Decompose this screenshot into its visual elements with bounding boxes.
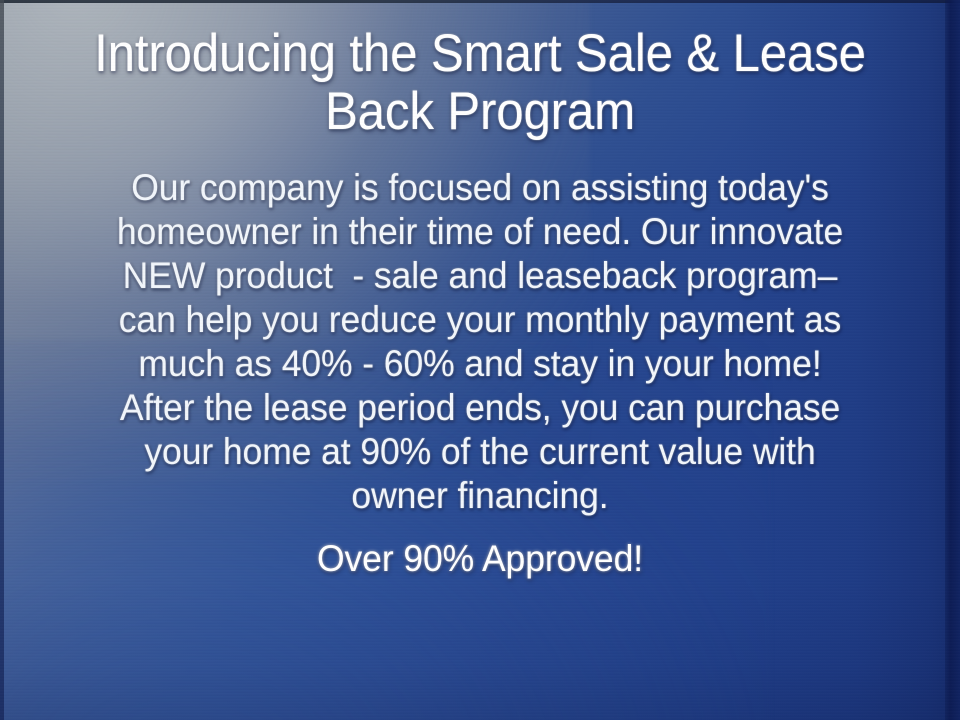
slide-body: Our company is focused on assisting toda…: [0, 166, 960, 518]
slide-body-line-2: homeowner in their time of need. Our inn…: [54, 210, 906, 254]
slide-body-line-4: can help you reduce your monthly payment…: [54, 298, 906, 342]
slide-content: Introducing the Smart Sale & Lease Back …: [0, 0, 960, 720]
slide-body-line-1: Our company is focused on assisting toda…: [54, 166, 906, 210]
slide-body-line-3: NEW product - sale and leaseback program…: [54, 254, 906, 298]
slide-title-line-2: Back Program: [65, 83, 895, 141]
slide-body-line-6: After the lease period ends, you can pur…: [54, 386, 906, 430]
slide-closing-line: Over 90% Approved!: [19, 537, 941, 581]
presentation-slide: Introducing the Smart Sale & Lease Back …: [0, 0, 960, 720]
slide-body-line-7: your home at 90% of the current value wi…: [54, 430, 906, 474]
slide-title: Introducing the Smart Sale & Lease Back …: [0, 25, 960, 141]
slide-body-line-5: much as 40% - 60% and stay in your home!: [54, 342, 906, 386]
slide-body-line-8: owner financing.: [54, 474, 906, 518]
slide-title-line-1: Introducing the Smart Sale & Lease: [65, 25, 895, 83]
slide-closing-statement: Over 90% Approved!: [0, 537, 960, 581]
